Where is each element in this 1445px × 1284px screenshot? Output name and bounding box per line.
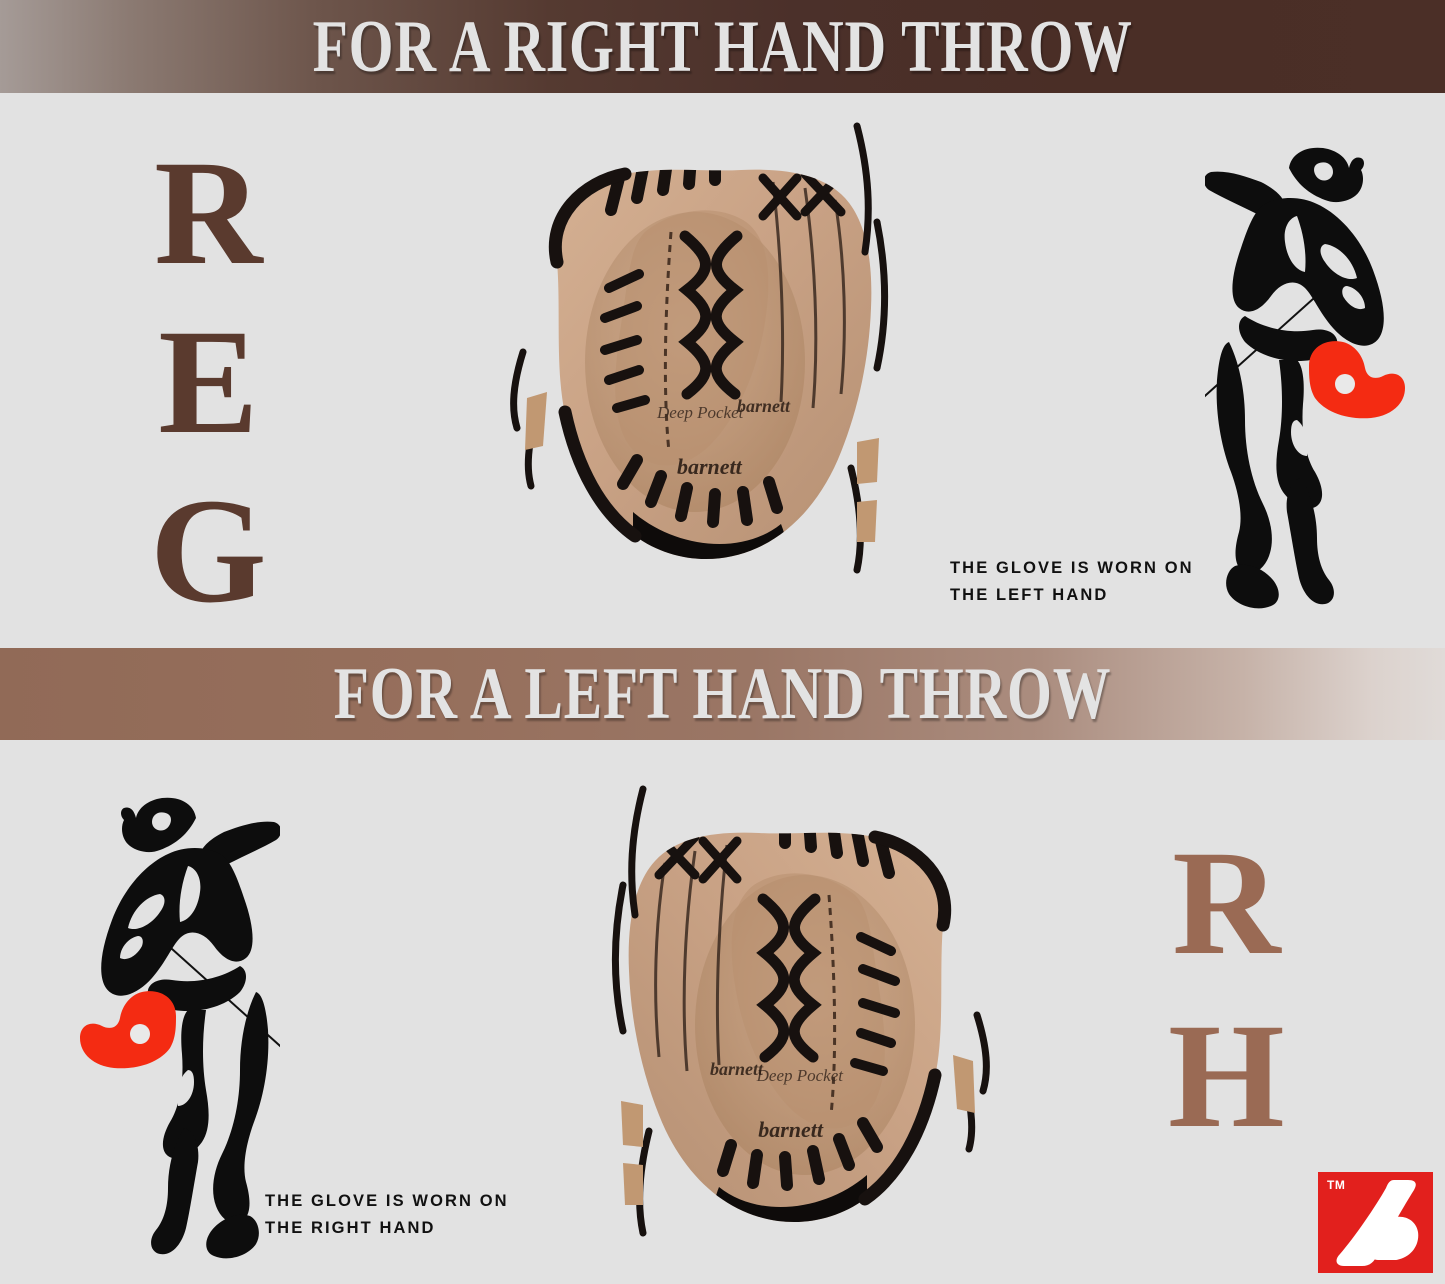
glove-model-text-bottom: Deep Pocket (756, 1066, 845, 1085)
caption-left-hand-worn: THE GLOVE IS WORN ON THE LEFT HAND (950, 555, 1194, 608)
letter-g-top: G (150, 478, 269, 625)
banner-left-hand-throw: FOR A LEFT HAND THROW (0, 648, 1445, 740)
glove-brand-text: barnett (677, 454, 743, 479)
letters-rh: R H (1168, 830, 1287, 1176)
caption-top-line-2: THE LEFT HAND (950, 582, 1194, 609)
barnett-logo-mark-icon (1318, 1172, 1433, 1273)
banner-right-hand-throw-label: FOR A RIGHT HAND THROW (312, 10, 1132, 84)
banner-left-hand-throw-label: FOR A LEFT HAND THROW (334, 657, 1112, 731)
banner-right-hand-throw: FOR A RIGHT HAND THROW (0, 0, 1445, 93)
caption-bottom-line-2: THE RIGHT HAND (265, 1215, 509, 1242)
infographic-canvas: FOR A RIGHT HAND THROW R E G (0, 0, 1445, 1284)
glove-image-left-hand-throw: Deep Pocket barnett barnett (585, 775, 995, 1284)
glove-image-right-hand-throw: Deep Pocket barnett barnett (505, 112, 915, 624)
letter-h-bottom: H (1168, 1003, 1287, 1150)
glove-model-text: Deep Pocket (656, 403, 745, 422)
letter-r-bottom: R (1168, 830, 1287, 977)
barnett-logo: TM (1318, 1172, 1433, 1273)
letters-reg: R E G (150, 140, 269, 647)
svg-text:barnett: barnett (737, 396, 791, 416)
letter-r-top: R (150, 140, 269, 287)
player-silhouette-left-hand-throw (45, 770, 280, 1270)
svg-text:barnett: barnett (710, 1059, 764, 1079)
caption-right-hand-worn: THE GLOVE IS WORN ON THE RIGHT HAND (265, 1188, 509, 1241)
glove-brand-text-bottom: barnett (758, 1117, 824, 1142)
caption-top-line-1: THE GLOVE IS WORN ON (950, 555, 1194, 582)
letter-e-top: E (150, 309, 269, 456)
player-silhouette-right-hand-throw (1205, 120, 1440, 620)
caption-bottom-line-1: THE GLOVE IS WORN ON (265, 1188, 509, 1215)
